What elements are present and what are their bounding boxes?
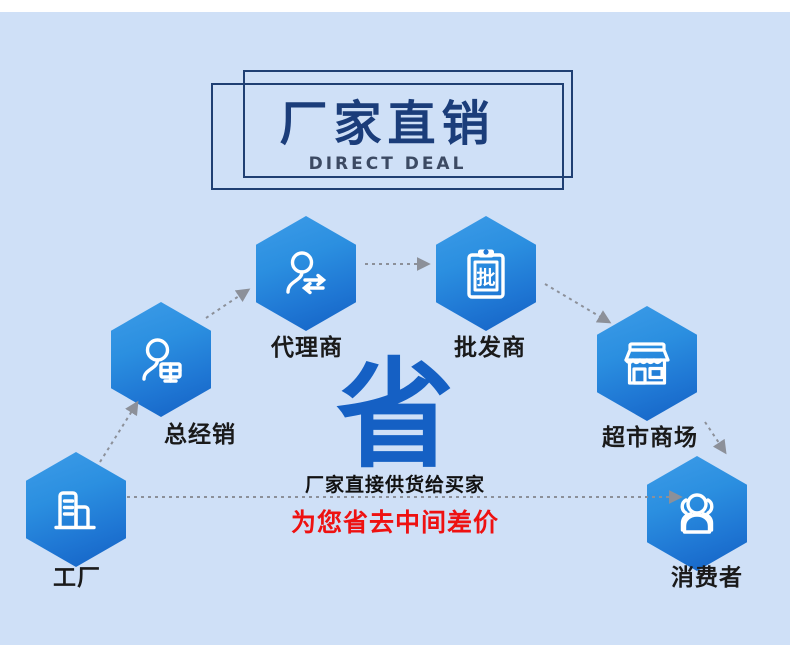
page-title-en: DIRECT DEAL xyxy=(309,154,467,174)
infographic-canvas: 厂家直销 DIRECT DEAL 省 厂家直接供货给买家 为您省去中间差价 工厂 xyxy=(0,0,790,645)
arrow-general-to-agent xyxy=(206,290,248,318)
banner-text-block: 厂家直销 DIRECT DEAL xyxy=(211,83,564,190)
savings-message-text: 为您省去中间差价 xyxy=(0,503,790,539)
direct-supply-text: 厂家直接供货给买家 xyxy=(0,470,790,497)
arrow-wholesale-to-store xyxy=(545,284,609,322)
savings-character: 省 xyxy=(0,356,790,474)
page-title-cn: 厂家直销 xyxy=(279,99,495,149)
